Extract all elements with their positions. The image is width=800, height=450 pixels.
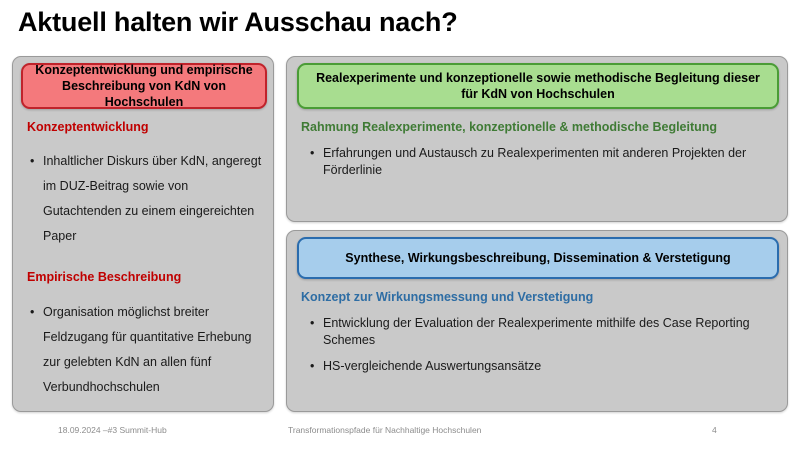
list-item: Erfahrungen und Austausch zu Realexperim… [307,145,773,179]
section-heading-konzept-wirkungsmessung: Konzept zur Wirkungsmessung und Versteti… [301,289,777,305]
list-item: HS-vergleichende Auswertungsansätze [307,358,763,375]
panel-top-right-header-chip: Realexperimente und konzeptionelle sowie… [297,63,779,109]
section-heading-empirische-beschreibung: Empirische Beschreibung [27,269,263,285]
slide-canvas: Aktuell halten wir Ausschau nach? Konzep… [0,0,800,450]
section-heading-konzeptentwicklung: Konzeptentwicklung [27,119,263,135]
footer-project-title: Transformationspfade für Nachhaltige Hoc… [288,425,481,435]
panel-left-header-chip: Konzeptentwicklung und empirische Beschr… [21,63,267,109]
footer-date-event: 18.09.2024 –#3 Summit-Hub [58,425,167,435]
footer-page-number: 4 [712,425,717,435]
page-title: Aktuell halten wir Ausschau nach? [18,5,778,39]
bullet-list-synthese: Entwicklung der Evaluation der Realexper… [307,315,763,375]
panel-synthese: Synthese, Wirkungsbeschreibung, Dissemin… [286,230,788,412]
slide-footer: 18.09.2024 –#3 Summit-Hub Transformation… [0,425,800,441]
bullet-list-empirische-beschreibung: Organisation möglichst breiter Feldzugan… [27,300,265,400]
bullet-list-konzeptentwicklung: Inhaltlicher Diskurs über KdN, angeregt … [27,149,265,249]
panel-realexperimente: Realexperimente und konzeptionelle sowie… [286,56,788,222]
panel-konzeptentwicklung: Konzeptentwicklung und empirische Beschr… [12,56,274,412]
bullet-list-realexperimente: Erfahrungen und Austausch zu Realexperim… [307,145,773,179]
panel-bottom-right-header-chip: Synthese, Wirkungsbeschreibung, Dissemin… [297,237,779,279]
list-item: Organisation möglichst breiter Feldzugan… [27,300,265,400]
list-item: Inhaltlicher Diskurs über KdN, angeregt … [27,149,265,249]
list-item: Entwicklung der Evaluation der Realexper… [307,315,763,349]
section-heading-rahmung-realexperimente: Rahmung Realexperimente, konzeptionelle … [301,119,777,135]
